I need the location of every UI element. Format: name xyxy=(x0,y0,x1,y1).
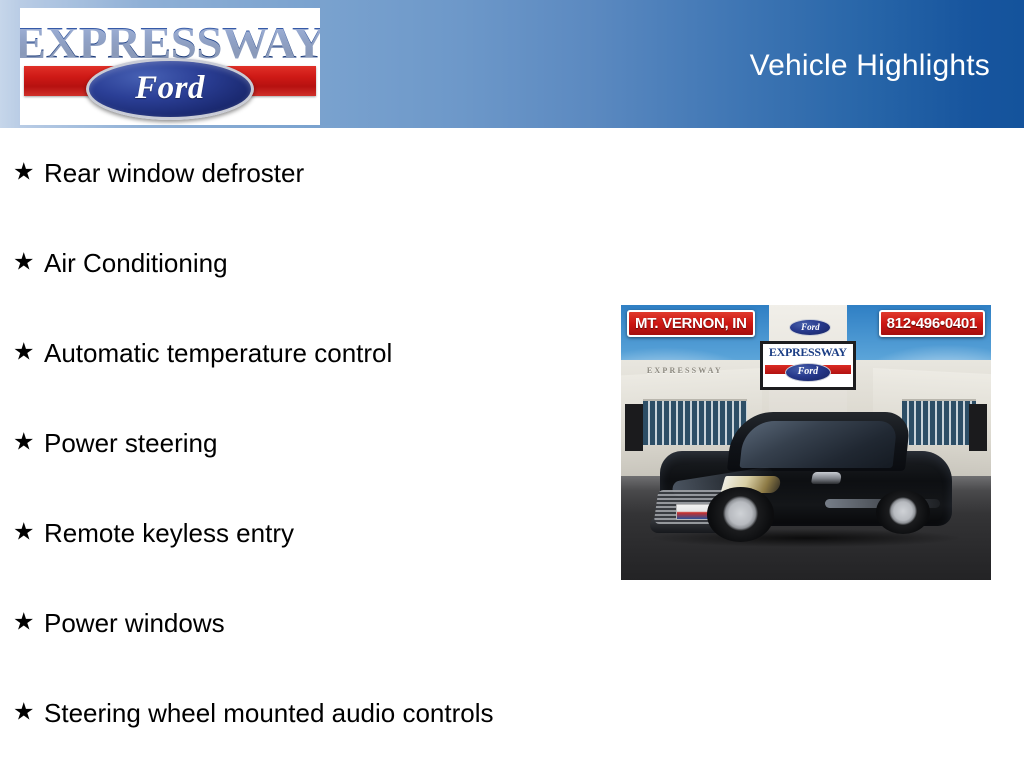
list-item-label: Steering wheel mounted audio controls xyxy=(44,698,494,728)
photo-vehicle-car xyxy=(647,415,965,544)
list-item-label: Automatic temperature control xyxy=(44,338,392,368)
list-item: ★ Remote keyless entry xyxy=(0,488,620,578)
photo-ford-oval-label: Ford xyxy=(790,320,830,334)
page-header: EXPRESSWAY Ford Vehicle Highlights xyxy=(0,0,1024,128)
star-bullet-icon: ★ xyxy=(13,251,35,275)
vehicle-highlights-list: ★ Rear window defroster ★ Air Conditioni… xyxy=(0,128,620,758)
dealer-logo[interactable]: EXPRESSWAY Ford xyxy=(20,8,320,125)
car-front-wheel xyxy=(707,487,774,541)
photo-location-badge: MT. VERNON, IN xyxy=(627,310,755,337)
star-bullet-icon: ★ xyxy=(13,161,35,185)
photo-sign-ford-label: Ford xyxy=(786,364,830,379)
photo-ford-oval-icon: Ford xyxy=(789,319,831,336)
list-item: ★ Power steering xyxy=(0,398,620,488)
list-item-label: Remote keyless entry xyxy=(44,518,294,548)
list-item-label: Rear window defroster xyxy=(44,158,304,188)
list-item: ★ Rear window defroster xyxy=(0,128,620,218)
star-bullet-icon: ★ xyxy=(13,521,35,545)
star-bullet-icon: ★ xyxy=(13,341,35,365)
list-item-label: Power steering xyxy=(44,428,217,458)
star-bullet-icon: ★ xyxy=(13,701,35,725)
photo-sign-wordmark: EXPRESSWAY xyxy=(763,345,853,359)
list-item-label: Power windows xyxy=(44,608,225,638)
photo-dealership-sign: EXPRESSWAY Ford xyxy=(760,341,856,391)
list-item: ★ Air Conditioning xyxy=(0,218,620,308)
ford-oval-label: Ford xyxy=(89,72,251,105)
car-rear-wheel xyxy=(876,490,930,534)
star-bullet-icon: ★ xyxy=(13,611,35,635)
photo-service-door-right xyxy=(969,404,988,451)
list-item: ★ Steering wheel mounted audio controls xyxy=(0,668,620,758)
list-item: ★ Power windows xyxy=(0,578,620,668)
vehicle-photo[interactable]: EXPRESSWAY Ford EXPRESSWAY Ford MT. VERN… xyxy=(621,305,991,580)
car-windshield xyxy=(740,421,898,468)
photo-sign-ford-oval-icon: Ford xyxy=(785,363,831,382)
photo-phone-badge: 812•496•0401 xyxy=(879,310,985,337)
list-item: ★ Automatic temperature control xyxy=(0,308,620,398)
star-bullet-icon: ★ xyxy=(13,431,35,455)
list-item-label: Air Conditioning xyxy=(44,248,228,278)
photo-service-door-left xyxy=(625,404,644,451)
photo-building-wall-text: EXPRESSWAY xyxy=(647,366,723,375)
car-side-mirror xyxy=(811,472,842,484)
page-title: Vehicle Highlights xyxy=(750,49,990,83)
ford-oval-logo-icon: Ford xyxy=(86,58,254,120)
dealer-logo-artwork: EXPRESSWAY Ford xyxy=(20,8,320,125)
